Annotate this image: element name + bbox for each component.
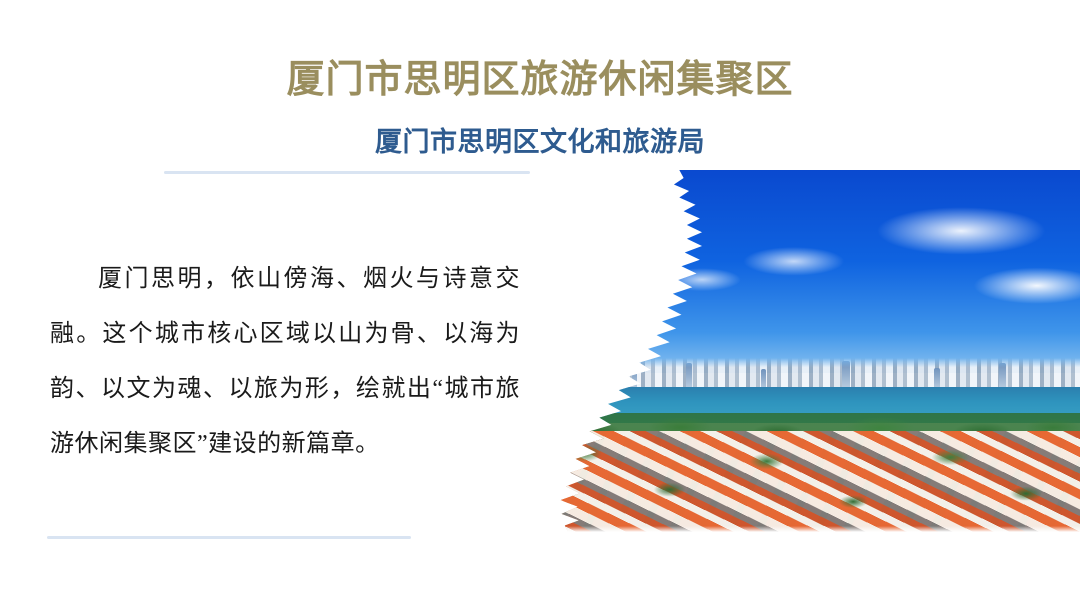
slide-page: 厦门市思明区旅游休闲集聚区 厦门市思明区文化和旅游局 厦门思明，依山傍海、烟火与… <box>0 0 1080 608</box>
xiamen-siming-aerial-photo <box>540 170 1080 532</box>
photo-figure <box>540 170 1080 532</box>
intro-paragraph: 厦门思明，依山傍海、烟火与诗意交融。这个城市核心区域以山为骨、以海为韵、以文为魂… <box>50 252 520 472</box>
rooftops-layer <box>540 431 1080 532</box>
page-title: 厦门市思明区旅游休闲集聚区 <box>0 57 1080 103</box>
bottom-divider <box>47 536 411 539</box>
page-subtitle: 厦门市思明区文化和旅游局 <box>0 126 1080 159</box>
sky-layer <box>540 170 1080 373</box>
top-divider <box>164 171 530 174</box>
